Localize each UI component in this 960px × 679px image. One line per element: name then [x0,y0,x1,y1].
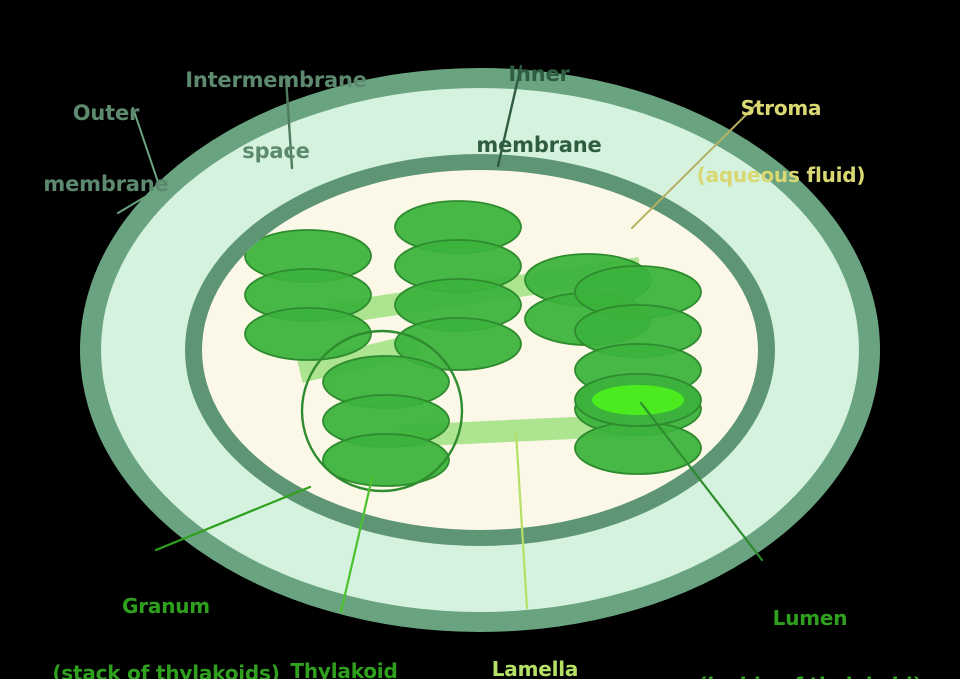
thylakoid-disc [323,434,449,486]
label-thylakoid-line1: Thylakoid [268,660,420,679]
thylakoid-disc [245,308,371,360]
label-inner-membrane: Inner membrane [462,16,616,204]
label-lamella-line1: Lamella [470,658,600,679]
label-intermembrane-space-line1: Intermembrane [162,69,390,93]
label-stroma-line1: Stroma [672,97,890,119]
label-granum-line1: Granum [20,595,312,617]
label-inner-membrane-line2: membrane [462,134,616,158]
label-stroma-line2: (aqueous fluid) [672,164,890,186]
label-thylakoid: Thylakoid [268,615,420,679]
label-stroma: Stroma (aqueous fluid) [672,52,890,231]
label-lumen-line1: Lumen [665,607,955,629]
label-intermembrane-space-line2: space [162,140,390,164]
thylakoid-disc [575,422,701,474]
label-lumen-line2: (inside of thylakoid) [665,674,955,679]
label-lamella: Lamella [470,613,600,679]
label-inner-membrane-line1: Inner [462,63,616,87]
chloroplast-diagram: Outer membrane Intermembrane space Inner… [0,0,960,679]
label-intermembrane-space: Intermembrane space [162,22,390,210]
lumen-highlight [592,385,684,415]
label-lumen: Lumen (inside of thylakoid) [665,562,955,679]
